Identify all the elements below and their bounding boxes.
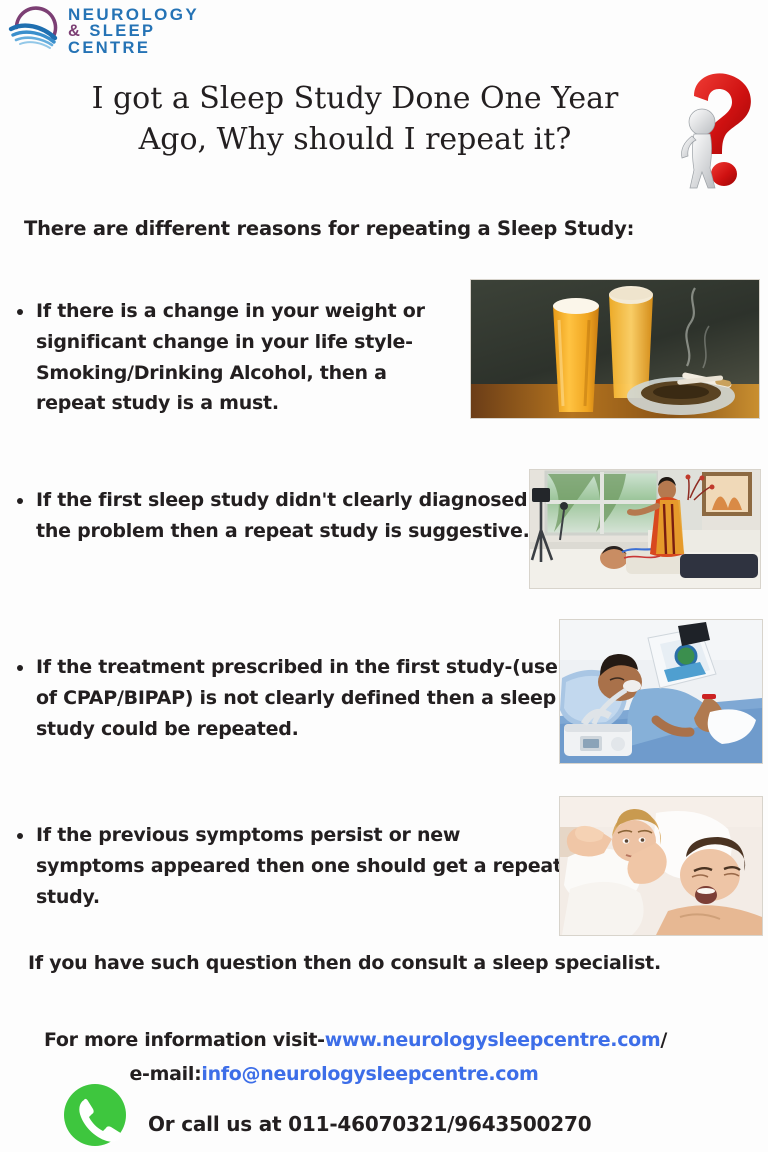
photo-cpap-patient-reading bbox=[559, 619, 763, 764]
logo-line-neurology: NEUROLOGY bbox=[68, 6, 199, 23]
list-item: If there is a change in your weight or s… bbox=[17, 296, 462, 419]
email-prefix-label: e-mail: bbox=[129, 1063, 201, 1085]
page-title-line-2: Ago, Why should I repeat it? bbox=[40, 119, 670, 160]
brand-logo[interactable]: NEUROLOGY & SLEEP CENTRE bbox=[6, 2, 199, 60]
bullet-dot-icon bbox=[17, 665, 23, 671]
page-title: I got a Sleep Study Done One Year Ago, W… bbox=[40, 78, 670, 161]
logo-sleep-word: SLEEP bbox=[89, 22, 155, 40]
infographic-page: NEUROLOGY & SLEEP CENTRE I got a Sleep S… bbox=[0, 0, 768, 1152]
list-item: If the treatment prescribed in the first… bbox=[17, 652, 572, 744]
contact-block: For more information visit-www.neurology… bbox=[44, 1024, 734, 1092]
bullet-dot-icon bbox=[17, 498, 23, 504]
photo-snoring-couple bbox=[559, 796, 763, 936]
logo-moon-wave-icon bbox=[6, 2, 64, 60]
photo-beer-and-cigarette bbox=[470, 279, 760, 419]
list-item-text: If the first sleep study didn't clearly … bbox=[36, 485, 542, 547]
list-item-text: If the treatment prescribed in the first… bbox=[36, 652, 572, 744]
website-link[interactable]: www.neurologysleepcentre.com bbox=[325, 1029, 661, 1051]
closing-text: If you have such question then do consul… bbox=[28, 952, 661, 974]
visit-prefix-label: For more information visit- bbox=[44, 1029, 325, 1051]
logo-ampersand: & bbox=[68, 22, 82, 40]
list-item: If the first sleep study didn't clearly … bbox=[17, 485, 542, 547]
contact-email-line: e-mail:info@neurologysleepcentre.com bbox=[44, 1058, 734, 1092]
list-item-text: If there is a change in your weight or s… bbox=[36, 296, 462, 419]
intro-text: There are different reasons for repeatin… bbox=[24, 217, 634, 240]
list-item-text: If the previous symptoms persist or new … bbox=[36, 820, 569, 912]
list-item: If the previous symptoms persist or new … bbox=[17, 820, 569, 912]
photo-sleep-lab-technician bbox=[529, 469, 761, 589]
contact-website-line: For more information visit-www.neurology… bbox=[44, 1024, 734, 1058]
phone-icon[interactable] bbox=[62, 1082, 128, 1148]
bullet-dot-icon bbox=[17, 833, 23, 839]
logo-wordmark: NEUROLOGY & SLEEP CENTRE bbox=[68, 6, 199, 56]
bullet-dot-icon bbox=[17, 309, 23, 315]
call-us-text: Or call us at 011-46070321/9643500270 bbox=[148, 1112, 591, 1136]
question-mark-icon bbox=[664, 70, 764, 192]
email-link[interactable]: info@neurologysleepcentre.com bbox=[201, 1063, 538, 1085]
logo-line-centre: CENTRE bbox=[68, 40, 199, 57]
logo-line-sleep: & SLEEP bbox=[68, 23, 199, 40]
page-title-line-1: I got a Sleep Study Done One Year bbox=[40, 78, 670, 119]
visit-suffix-label: / bbox=[660, 1029, 667, 1051]
